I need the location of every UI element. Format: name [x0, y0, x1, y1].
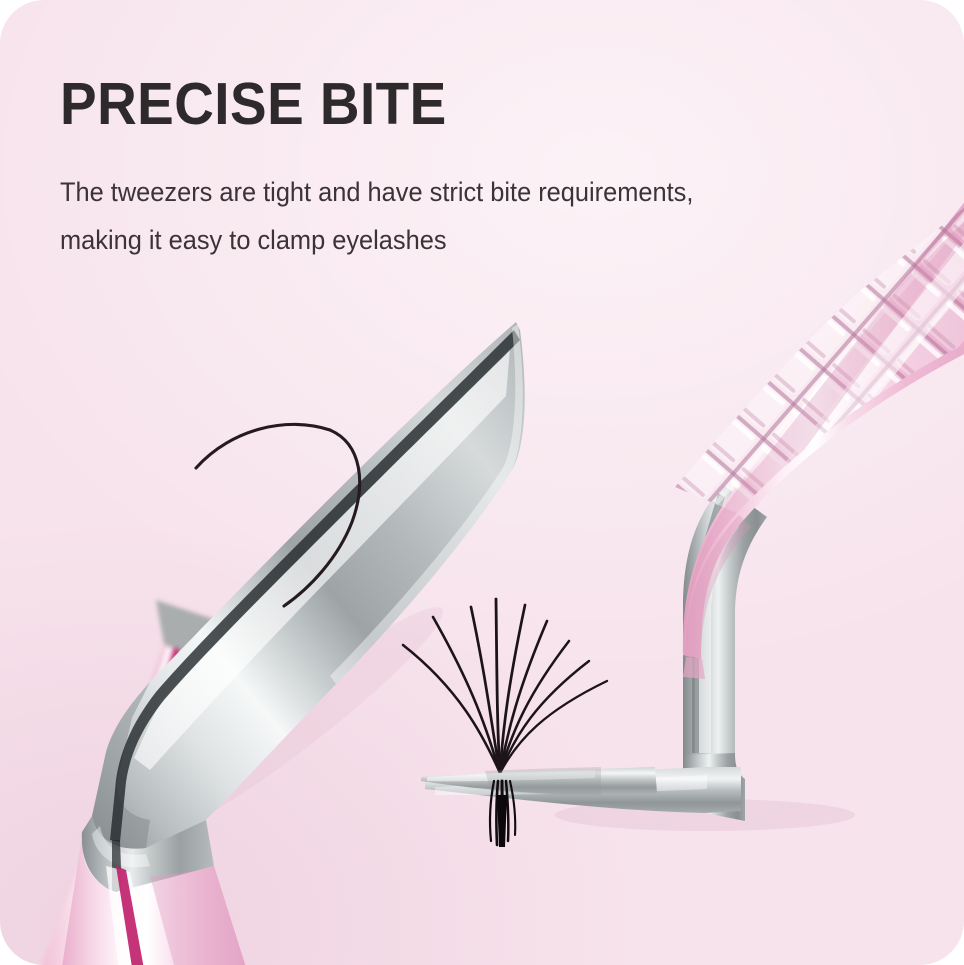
subtitle: The tweezers are tight and have strict b… — [60, 168, 793, 264]
page-title: PRECISE BITE — [60, 74, 785, 134]
fan-lashes — [403, 599, 607, 773]
volume-lash-fan — [395, 595, 675, 855]
subtitle-line-2: making it easy to clamp eyelashes — [60, 216, 793, 264]
fan-base-core — [497, 795, 507, 847]
single-lash-behind — [196, 424, 330, 468]
product-feature-image: PRECISE BITE The tweezers are tight and … — [0, 0, 964, 965]
fan-boot-tip — [421, 767, 657, 795]
subtitle-line-1: The tweezers are tight and have strict b… — [60, 168, 793, 216]
pink-card-background: PRECISE BITE The tweezers are tight and … — [0, 0, 964, 965]
text-block: PRECISE BITE The tweezers are tight and … — [60, 74, 840, 264]
